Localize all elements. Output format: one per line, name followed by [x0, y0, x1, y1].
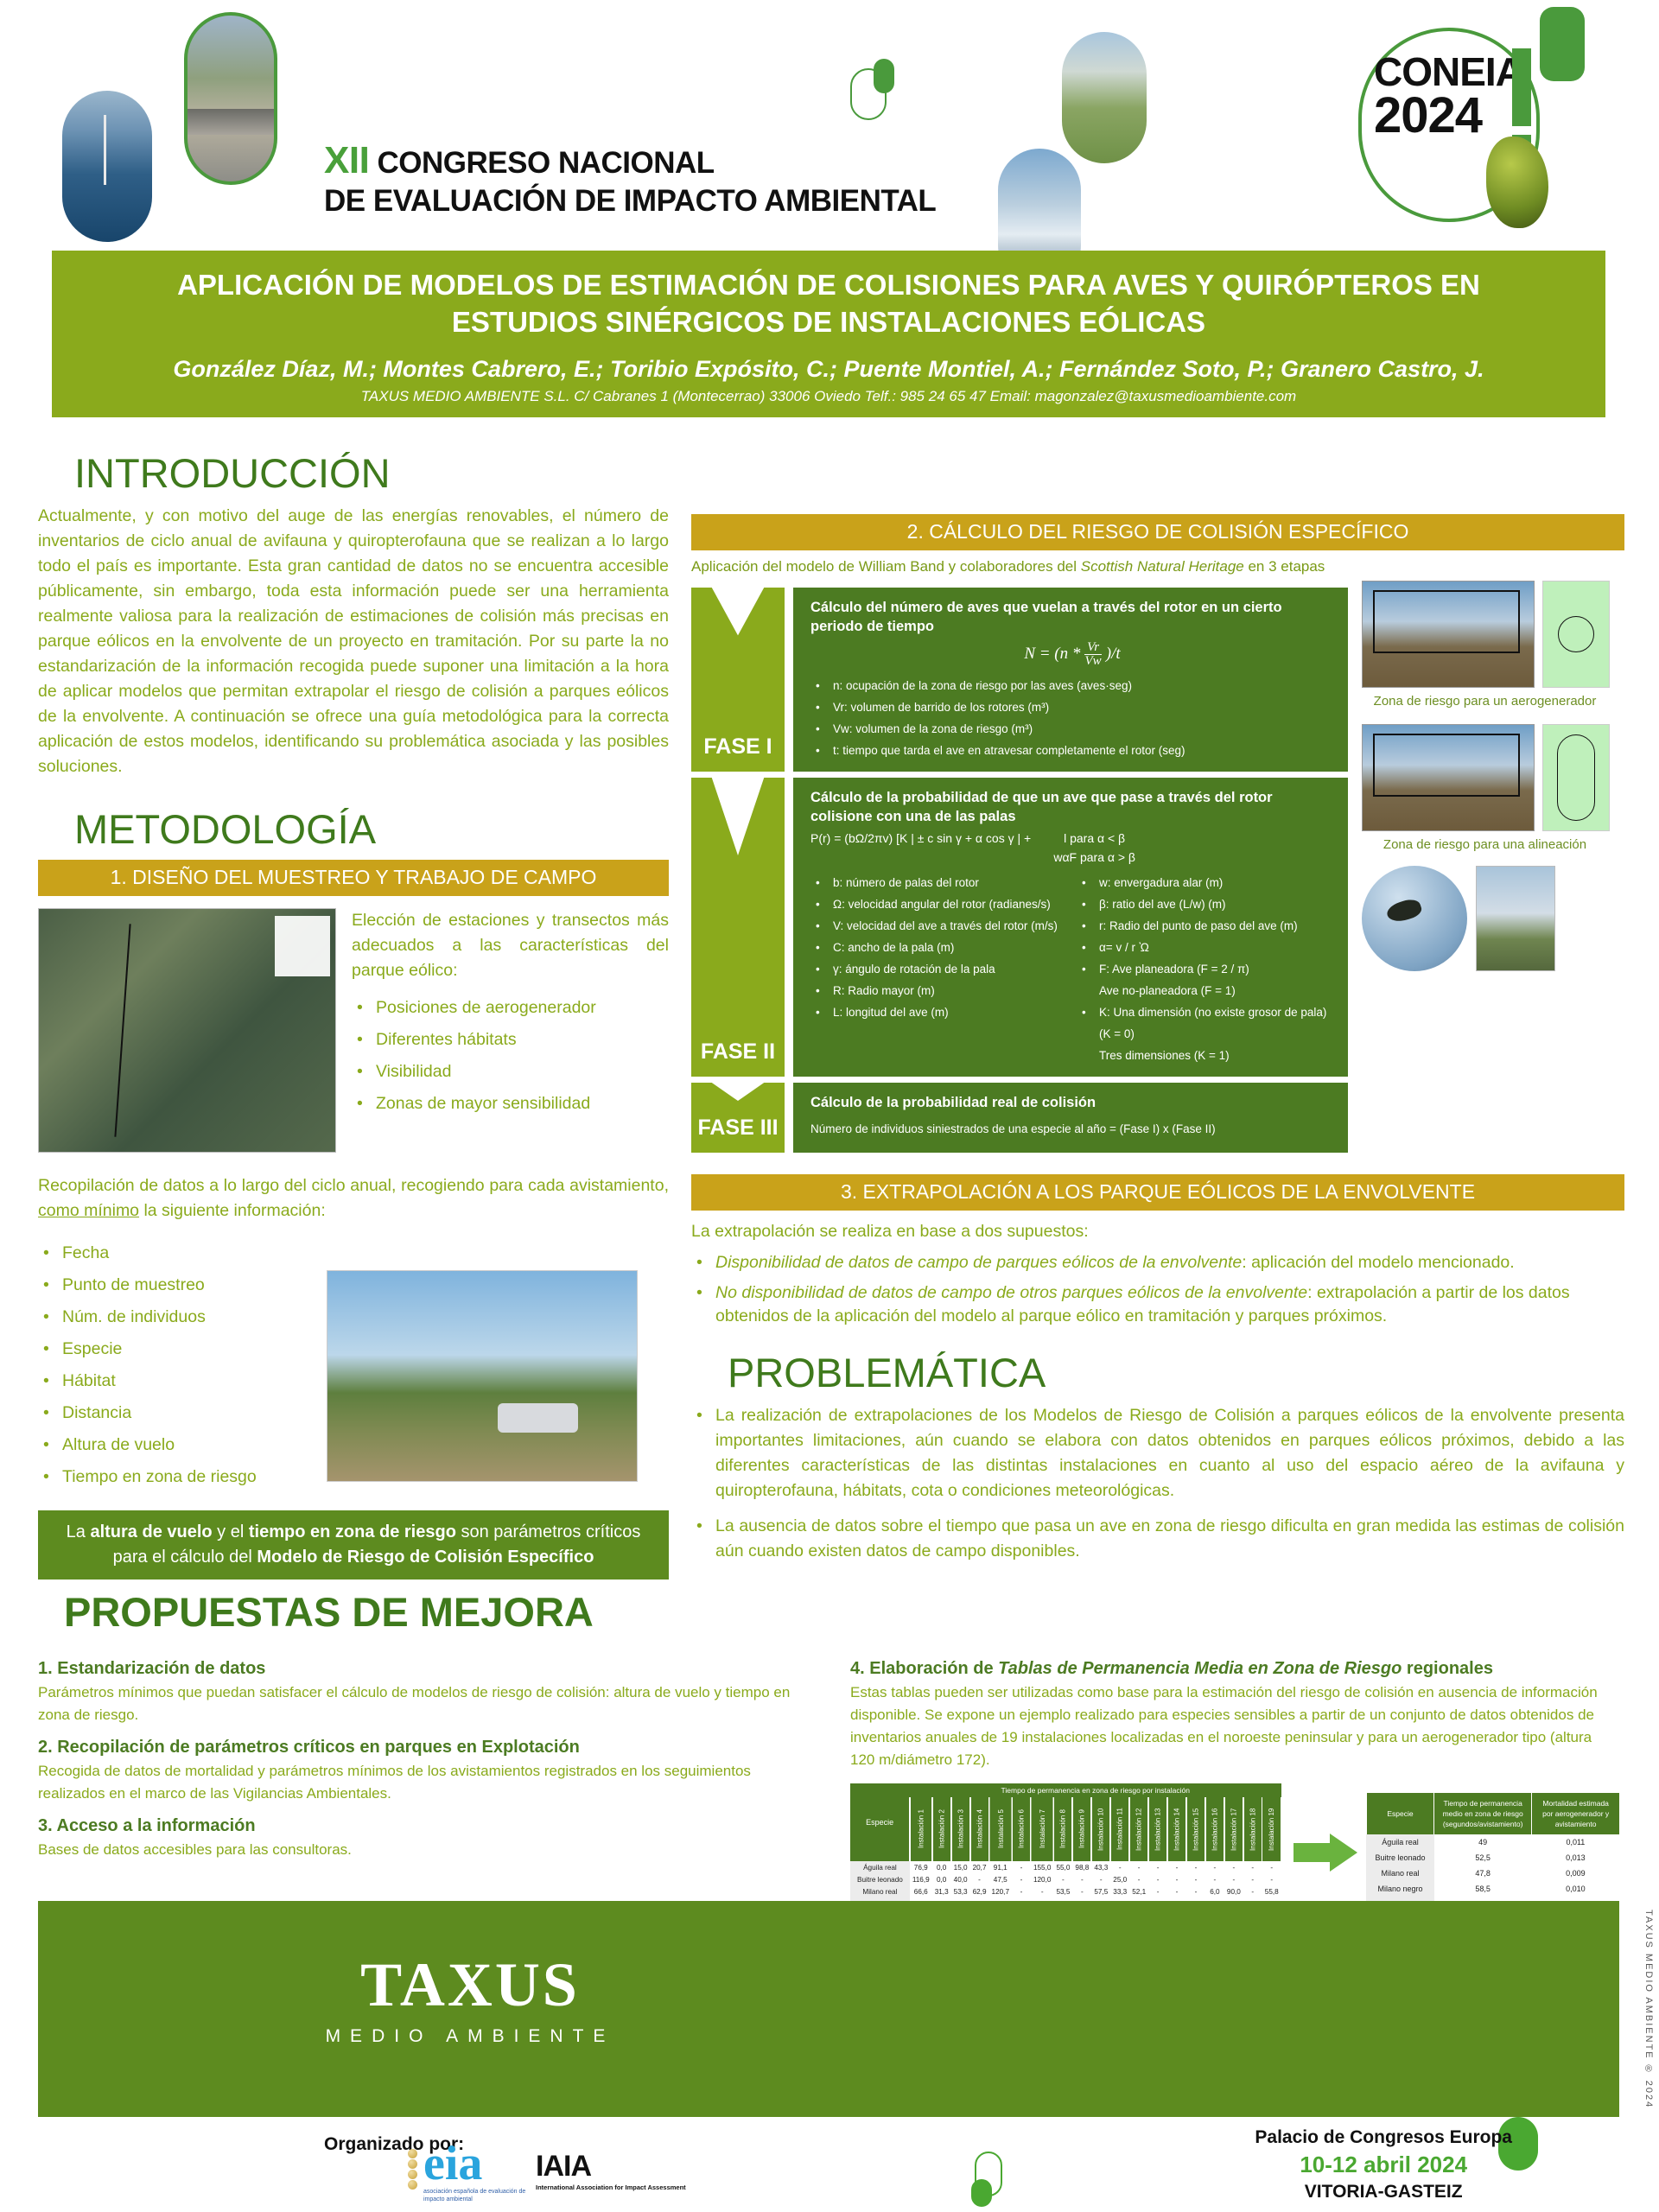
table-cell: 0,0 [932, 1861, 951, 1873]
fase-2-variables-right: w: envergadura alar (m) β: ratio del ave… [1077, 872, 1334, 1066]
introduccion-text: Actualmente, y con motivo del auge de la… [38, 504, 669, 779]
table-cell: 52,5 [1434, 1850, 1532, 1866]
propuesta-4-title: 4. Elaboración de Tablas de Permanencia … [850, 1659, 1619, 1679]
eia-caption: asociación española de evaluación de imp… [423, 2188, 527, 2203]
bat-photo [1476, 866, 1555, 971]
calculo-subtitle: Aplicación del modelo de William Band y … [691, 558, 1624, 575]
table-cell: 0,010 [1532, 1881, 1619, 1897]
table-cell: - [1129, 1861, 1148, 1873]
table-cell: - [1012, 1873, 1031, 1885]
table-cell: - [1243, 1861, 1262, 1873]
list-item: Vw: volumen de la zona de riesgo (m³) [810, 718, 1334, 740]
recopilacion-text: Recopilación de datos a lo largo del cic… [38, 1173, 669, 1224]
table-col-header: Instalación 15 [1186, 1797, 1205, 1861]
table-cell-species: Buitre leonado [850, 1873, 910, 1885]
fase-2-box: Cálculo de la probabilidad de que un ave… [793, 778, 1348, 1077]
fase-1-formula: N = (n * VrVw )/t [810, 641, 1334, 668]
table-cell: 98,8 [1072, 1861, 1091, 1873]
bullet-2-italic: No disponibilidad de datos de campo de o… [715, 1283, 1307, 1302]
title-line-2: ESTUDIOS SINÉRGICOS DE INSTALACIONES EÓL… [452, 306, 1205, 338]
table-cell: 53,5 [1053, 1885, 1072, 1897]
fase-3-text: Número de individuos siniestrados de una… [810, 1122, 1334, 1135]
bar-extrapolacion: 3. EXTRAPOLACIÓN A LOS PARQUE EÓLICOS DE… [691, 1174, 1624, 1211]
fase-3-title: Cálculo de la probabilidad real de colis… [810, 1093, 1334, 1112]
table-cell: - [1129, 1873, 1148, 1885]
table-col-header: Instalación 4 [970, 1797, 989, 1861]
table-cell: 49 [1434, 1834, 1532, 1850]
footer-brand-band: TAXUS MEDIO AMBIENTE [38, 1901, 1619, 2117]
list-item: Vr: volumen de barrido de los rotores (m… [810, 696, 1334, 718]
list-item: C: ancho de la pala (m) [810, 937, 1068, 958]
table-cell: 76,9 [910, 1861, 932, 1873]
decorative-pill-icon [850, 68, 887, 120]
table-col-header: Instalación 2 [932, 1797, 951, 1861]
heading-propuestas: PROPUESTAS DE MEJORA [64, 1588, 1619, 1636]
table-cell: 0,011 [1532, 1834, 1619, 1850]
list-item: Posiciones de aerogenerador [352, 992, 669, 1024]
summary-permanence-table: EspecieTiempo de permanencia medio en zo… [1366, 1793, 1619, 1912]
table-cell: - [1243, 1873, 1262, 1885]
list-item: γ: ángulo de rotación de la pala [810, 958, 1068, 980]
table-cell: - [1167, 1885, 1186, 1897]
bird-photo-circle [1362, 866, 1467, 971]
table-cell: - [1031, 1885, 1054, 1897]
left-column: INTRODUCCIÓN Actualmente, y con motivo d… [38, 449, 669, 1580]
table-col-header: Instalación 1 [910, 1797, 932, 1861]
table-cell: - [1110, 1861, 1129, 1873]
propuesta-1-title: 1. Estandarización de datos [38, 1659, 807, 1679]
table-cell: 55,0 [1053, 1861, 1072, 1873]
table-cell: 31,3 [932, 1885, 951, 1897]
table-cell: 20,7 [970, 1861, 989, 1873]
fase-diagram: FASE I Cálculo del número de aves que vu… [691, 588, 1348, 1159]
list-item: w: envergadura alar (m) [1077, 872, 1334, 893]
list-item: t: tiempo que tarda el ave en atravesar … [810, 740, 1334, 761]
figure-caption-1: Zona de riesgo para un aerogenerador [1362, 694, 1608, 709]
footer-pill-icon [975, 2152, 1002, 2196]
table-cell: - [1186, 1861, 1205, 1873]
list-item: Distancia [38, 1397, 315, 1429]
heading-introduccion: INTRODUCCIÓN [74, 449, 669, 497]
table-cell: - [1053, 1873, 1072, 1885]
coneia-year: 2024 [1374, 92, 1523, 140]
table-cell: 91,1 [989, 1861, 1013, 1873]
congress-wordmark: XII CONGRESO NACIONAL DE EVALUACIÓN DE I… [324, 143, 936, 221]
iaia-caption: International Association for Impact Ass… [536, 2183, 686, 2191]
table-cell: 33,3 [1110, 1885, 1129, 1897]
summary-col-header: Mortalidad estimada por aerogenerador y … [1532, 1793, 1619, 1834]
exclamation-icon [1512, 48, 1531, 126]
iaia-wordmark: IAIA [536, 2150, 686, 2183]
table-cell: - [1262, 1861, 1281, 1873]
table-cell: - [1012, 1861, 1031, 1873]
list-item: α= v / r Ὼ [1077, 937, 1334, 958]
propuestas-right-column: 4. Elaboración de Tablas de Permanencia … [850, 1648, 1619, 1922]
table-row: Milano real47,80,009 [1366, 1866, 1619, 1881]
congress-numeral: XII [324, 139, 369, 181]
table-cell: 55,8 [1262, 1885, 1281, 1897]
table-row: Águila real490,011 [1366, 1834, 1619, 1850]
formula-denominator: Vw [1085, 654, 1102, 668]
data-field-bullet-list: Fecha Punto de muestreo Núm. de individu… [38, 1237, 315, 1493]
list-item: K: Una dimensión (no existe grosor de pa… [1077, 1001, 1334, 1045]
photo-offshore-wind [62, 91, 152, 242]
table-cell: 120,0 [1031, 1873, 1054, 1885]
extrapolacion-section: 3. EXTRAPOLACIÓN A LOS PARQUE EÓLICOS DE… [691, 1174, 1624, 1328]
list-item: Ω: velocidad angular del rotor (radianes… [810, 893, 1068, 915]
poster-header: XII CONGRESO NACIONAL DE EVALUACIÓN DE I… [0, 0, 1659, 251]
table-group-header: Tiempo de permanencia en zona de riesgo … [910, 1783, 1281, 1797]
table-row: Buitre leonado52,50,013 [1366, 1850, 1619, 1866]
table-cell: - [1205, 1873, 1224, 1885]
eia-logo: eia asociación española de evaluación de… [423, 2141, 527, 2206]
fase2-formula-lhs: P(r) = (bΩ/2πv) [K | ± c sin γ + α cos γ… [810, 831, 1031, 845]
table-col-header: Instalación 13 [1148, 1797, 1167, 1861]
propuesta-1-text: Parámetros mínimos que puedan satisfacer… [38, 1681, 807, 1726]
list-item: V: velocidad del ave a través del rotor … [810, 915, 1068, 937]
arrow-right-icon [1294, 1834, 1354, 1872]
formula-lhs: N = (n * [1024, 645, 1080, 663]
table-cell: 47,5 [989, 1873, 1013, 1885]
table-cell: - [1148, 1873, 1167, 1885]
subtitle-italic: Scottish Natural Heritage [1081, 558, 1244, 575]
propuesta-2-text: Recogida de datos de mortalidad y paráme… [38, 1760, 807, 1805]
table-cell: 15,0 [951, 1861, 970, 1873]
table-cell: - [1224, 1861, 1243, 1873]
note-bold2: tiempo en zona de riesgo [249, 1522, 456, 1541]
list-item: Zonas de mayor sensibilidad [352, 1088, 669, 1120]
bar-diseno-muestreo: 1. DISEÑO DEL MUESTREO Y TRABAJO DE CAMP… [38, 860, 669, 896]
table-cell: - [1224, 1873, 1243, 1885]
problematica-section: PROBLEMÁTICA La realización de extrapola… [691, 1349, 1624, 1564]
table-col-header: Instalación 7 [1031, 1797, 1054, 1861]
step1-intro-text: Elección de estaciones y transectos más … [352, 908, 669, 983]
subtitle-post: en 3 etapas [1244, 558, 1325, 575]
table-col-header: Instalación 3 [951, 1797, 970, 1861]
table-cell: - [1186, 1873, 1205, 1885]
recopilacion-underline: como mínimo [38, 1201, 139, 1220]
brand-name: TAXUS [38, 1949, 902, 2021]
list-item: R: Radio mayor (m) [810, 980, 1068, 1001]
note-bold3: Modelo de Riesgo de Colisión Específico [257, 1548, 594, 1567]
extrapolacion-intro: La extrapolación se realiza en base a do… [691, 1219, 1624, 1244]
fase2-formula-case2: wαF para α > β [810, 848, 1334, 867]
table-cell: 90,0 [1224, 1885, 1243, 1897]
list-item: b: número de palas del rotor [810, 872, 1068, 893]
note-part1: La [67, 1522, 91, 1541]
fase-1-box: Cálculo del número de aves que vuelan a … [793, 588, 1348, 772]
list-item: Altura de vuelo [38, 1429, 315, 1461]
summary-col-header: Tiempo de permanencia medio en zona de r… [1434, 1793, 1532, 1834]
table-cell: 116,9 [910, 1873, 932, 1885]
side-credit-text: TAXUS MEDIO AMBIENTE ® 2024 [1643, 1910, 1654, 2108]
venue-dates: 10-12 abril 2024 [1255, 2152, 1512, 2178]
propuesta-3-title: 3. Acceso a la información [38, 1816, 807, 1836]
eia-dots-icon [408, 2148, 417, 2190]
venue-info: Palacio de Congresos Europa 10-12 abril … [1255, 2127, 1512, 2202]
table-cell: 0,009 [1532, 1866, 1619, 1881]
table-cell: 40,0 [951, 1873, 970, 1885]
figure-caption-2: Zona de riesgo para una alineación [1362, 837, 1608, 852]
risk-zone-plan-line [1542, 724, 1610, 831]
table-col-header: Instalación 18 [1243, 1797, 1262, 1861]
table-col-header: Instalación 12 [1129, 1797, 1148, 1861]
table-col-header: Instalación 17 [1224, 1797, 1243, 1861]
list-item: Visibilidad [352, 1056, 669, 1088]
propuesta-4-pre: 4. Elaboración de [850, 1659, 998, 1678]
fase-1-title: Cálculo del número de aves que vuelan a … [810, 598, 1334, 636]
summary-table-headers: EspecieTiempo de permanencia medio en zo… [1366, 1793, 1619, 1834]
photo-mountain-meadow [1062, 32, 1147, 163]
table-cell-species: Águila real [850, 1861, 910, 1873]
step1-bullet-list: Posiciones de aerogenerador Diferentes h… [352, 992, 669, 1120]
coneia-label: CONEIA [1374, 52, 1523, 92]
fase-2-title: Cálculo de la probabilidad de que un ave… [810, 788, 1334, 826]
fase-3-row: FASE III Cálculo de la probabilidad real… [691, 1083, 1348, 1153]
table-cell: 155,0 [1031, 1861, 1054, 1873]
title-line-1: APLICACIÓN DE MODELOS DE ESTIMACIÓN DE C… [177, 269, 1480, 301]
list-item: Hábitat [38, 1365, 315, 1397]
table-cell: - [1072, 1873, 1091, 1885]
list-item: Especie [38, 1333, 315, 1365]
heading-problematica: PROBLEMÁTICA [728, 1349, 1624, 1396]
table-cell: - [1205, 1861, 1224, 1873]
formula-numerator: Vr [1084, 641, 1102, 655]
list-item: Diferentes hábitats [352, 1024, 669, 1056]
list-item: Fecha [38, 1237, 315, 1269]
table-cell: - [1091, 1873, 1110, 1885]
study-area-map-image [38, 908, 336, 1153]
iaia-logo: IAIA International Association for Impac… [536, 2150, 686, 2191]
table-cell: - [1148, 1861, 1167, 1873]
congress-line2: DE EVALUACIÓN DE IMPACTO AMBIENTAL [324, 181, 936, 221]
author-list: González Díaz, M.; Montes Cabrero, E.; T… [86, 354, 1571, 384]
recopilacion-post: la siguiente información: [139, 1201, 326, 1220]
risk-zone-plan-single [1542, 581, 1610, 688]
fase-1-label: FASE I [691, 734, 785, 760]
list-item: n: ocupación de la zona de riesgo por la… [810, 675, 1334, 696]
table-cell-species: Milano real [1366, 1866, 1433, 1881]
table-cell: 66,6 [910, 1885, 932, 1897]
table-cell: - [1262, 1873, 1281, 1885]
note-bold1: altura de vuelo [90, 1522, 212, 1541]
table-cell: 47,8 [1434, 1866, 1532, 1881]
wind-turbine-risk-photo-2 [1362, 724, 1535, 831]
table-cell: - [1012, 1885, 1031, 1897]
problematica-bullets: La realización de extrapolaciones de los… [691, 1403, 1624, 1564]
propuesta-4-italic: Tablas de Permanencia Media en Zona de R… [998, 1659, 1402, 1678]
table-cell: 52,1 [1129, 1885, 1148, 1897]
frog-illustration [1486, 137, 1548, 228]
poster-title-banner: APLICACIÓN DE MODELOS DE ESTIMACIÓN DE C… [52, 251, 1605, 417]
table-cell-species: Milano negro [1366, 1881, 1433, 1897]
bullet-1-italic: Disponibilidad de datos de campo de parq… [715, 1253, 1242, 1272]
list-item: Tiempo en zona de riesgo [38, 1461, 315, 1493]
fase2-formula-case1: l para α < β [1064, 829, 1125, 848]
bar-calculo-riesgo: 2. CÁLCULO DEL RIESGO DE COLISIÓN ESPECÍ… [691, 514, 1624, 550]
table-header-especie: Especie [850, 1783, 910, 1861]
table-cell: 0,0 [932, 1873, 951, 1885]
table-row: Águila real76,90,015,020,791,1-155,055,0… [850, 1861, 1281, 1873]
coneia-logo: CONEIA 2024 [1358, 7, 1609, 230]
propuesta-4-text: Estas tablas pueden ser utilizadas como … [850, 1681, 1619, 1771]
table-col-header: Instalación 11 [1110, 1797, 1129, 1861]
fase-1-variable-list: n: ocupación de la zona de riesgo por la… [810, 675, 1334, 761]
fase-2-label: FASE II [691, 1039, 785, 1065]
brand-tagline: MEDIO AMBIENTE [38, 2026, 902, 2047]
fase-3-label: FASE III [691, 1116, 785, 1141]
fieldwork-photo [327, 1270, 638, 1482]
table-row: Milano real66,631,353,362,9120,7--53,5-5… [850, 1885, 1281, 1897]
propuesta-2-title: 2. Recopilación de parámetros críticos e… [38, 1738, 807, 1758]
affiliation-line: TAXUS MEDIO AMBIENTE S.L. C/ Cabranes 1 … [86, 388, 1571, 405]
eia-wordmark: eia [423, 2141, 527, 2186]
fase-2-row: FASE II Cálculo de la probabilidad de qu… [691, 778, 1348, 1077]
fase-2-formula: P(r) = (bΩ/2πv) [K | ± c sin γ + α cos γ… [810, 829, 1334, 848]
table-cell-species: Buitre leonado [1366, 1850, 1433, 1866]
list-item: Núm. de individuos [38, 1301, 315, 1333]
table-col-header: Instalación 5 [989, 1797, 1013, 1861]
summary-col-header: Especie [1366, 1793, 1433, 1834]
table-cell: - [1072, 1885, 1091, 1897]
table-row: Buitre leonado116,90,040,0-47,5-120,0---… [850, 1873, 1281, 1885]
table-col-header: Instalación 14 [1167, 1797, 1186, 1861]
list-item: Ave no-planeadora (F = 1) [1077, 980, 1334, 1001]
fase-1-row: FASE I Cálculo del número de aves que vu… [691, 588, 1348, 772]
recopilacion-pre: Recopilación de datos a lo largo del cic… [38, 1176, 669, 1195]
list-item: L: longitud del ave (m) [810, 1001, 1068, 1023]
propuestas-left-column: 1. Estandarización de datos Parámetros m… [38, 1648, 807, 1922]
table-cell: - [1167, 1873, 1186, 1885]
fase-3-arrow-shape: FASE III [691, 1083, 785, 1153]
table-cell: - [1167, 1861, 1186, 1873]
fase-1-arrow-shape: FASE I [691, 588, 785, 772]
table-cell: - [1148, 1885, 1167, 1897]
table-col-header: Instalación 10 [1091, 1797, 1110, 1861]
table-cell-species: Milano real [850, 1885, 910, 1897]
propuesta-3-text: Bases de datos accesibles para las consu… [38, 1839, 807, 1861]
venue-name: Palacio de Congresos Europa [1255, 2127, 1512, 2148]
table-cell: - [970, 1873, 989, 1885]
list-item: La realización de extrapolaciones de los… [691, 1403, 1624, 1503]
list-item: La ausencia de datos sobre el tiempo que… [691, 1514, 1624, 1564]
list-item: β: ratio del ave (L/w) (m) [1077, 893, 1334, 915]
table-col-header: Instalación 8 [1053, 1797, 1072, 1861]
taxus-logo: TAXUS MEDIO AMBIENTE [38, 1949, 902, 2047]
bullet-1-rest: : aplicación del modelo mencionado. [1242, 1253, 1514, 1272]
table-column-headers: Instalación 1Instalación 2Instalación 3I… [850, 1797, 1281, 1861]
table-cell: 43,3 [1091, 1861, 1110, 1873]
list-item: F: Ave planeadora (F = 2 / π) [1077, 958, 1334, 980]
list-item: r: Radio del punto de paso del ave (m) [1077, 915, 1334, 937]
table-col-header: Instalación 16 [1205, 1797, 1224, 1861]
fase-3-box: Cálculo de la probabilidad real de colis… [793, 1083, 1348, 1153]
table-cell: 6,0 [1205, 1885, 1224, 1897]
critical-parameters-note: La altura de vuelo y el tiempo en zona d… [38, 1510, 669, 1580]
table-cell: 25,0 [1110, 1873, 1129, 1885]
table-cell: 53,3 [951, 1885, 970, 1897]
table-col-header: Instalación 19 [1262, 1797, 1281, 1861]
table-cell-species: Águila real [1366, 1834, 1433, 1850]
list-item: No disponibilidad de datos de campo de o… [691, 1281, 1624, 1328]
table-cell: - [1243, 1885, 1262, 1897]
table-cell: 0,013 [1532, 1850, 1619, 1866]
table-cell: 57,5 [1091, 1885, 1110, 1897]
venue-city: VITORIA-GASTEIZ [1255, 2182, 1512, 2202]
right-column: 2. CÁLCULO DEL RIESGO DE COLISIÓN ESPECÍ… [691, 514, 1624, 1564]
risk-zone-figures: Zona de riesgo para un aerogenerador Zon… [1362, 575, 1617, 1159]
list-item: Tres dimensiones (K = 1) [1077, 1045, 1334, 1066]
table-col-header: Instalación 6 [1012, 1797, 1031, 1861]
wind-turbine-risk-photo-1 [1362, 581, 1535, 688]
heading-metodologia: METODOLOGÍA [74, 805, 669, 853]
formula-rhs: )/t [1106, 645, 1121, 663]
extrapolacion-bullets: Disponibilidad de datos de campo de parq… [691, 1251, 1624, 1328]
fase-2-arrow-shape: FASE II [691, 778, 785, 1077]
fase-2-variables-left: b: número de palas del rotor Ω: velocida… [810, 872, 1068, 1066]
propuesta-4-post: regionales [1402, 1659, 1493, 1678]
table-row: Milano negro58,50,010 [1366, 1881, 1619, 1897]
table-cell: 120,7 [989, 1885, 1013, 1897]
coneia-tab-shape [1540, 7, 1585, 81]
table-col-header: Instalación 9 [1072, 1797, 1091, 1861]
propuestas-section: PROPUESTAS DE MEJORA 1. Estandarización … [38, 1588, 1619, 1922]
photo-goat-railway [184, 12, 277, 185]
table-cell: - [1186, 1885, 1205, 1897]
table-cell: 58,5 [1434, 1881, 1532, 1897]
list-item: Punto de muestreo [38, 1269, 315, 1301]
note-part2: y el [213, 1522, 249, 1541]
congress-line1: CONGRESO NACIONAL [378, 146, 715, 180]
table-cell: 62,9 [970, 1885, 989, 1897]
subtitle-pre: Aplicación del modelo de William Band y … [691, 558, 1081, 575]
list-item: Disponibilidad de datos de campo de parq… [691, 1251, 1624, 1274]
map-legend [275, 916, 330, 976]
